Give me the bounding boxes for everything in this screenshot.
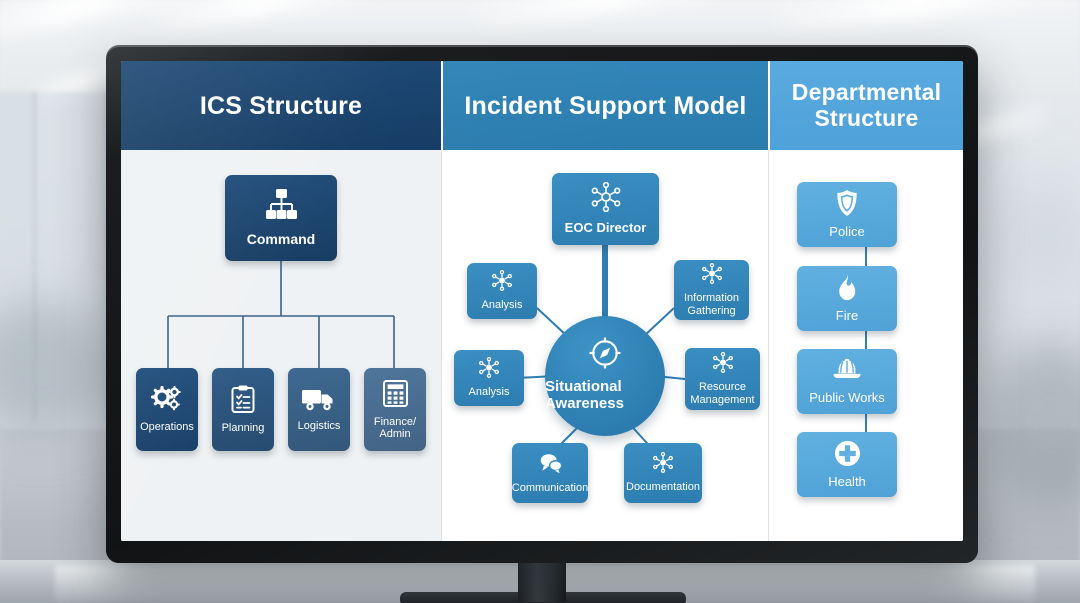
node-public-works[interactable]: Public Works — [797, 349, 897, 414]
node-label: Logistics — [298, 420, 341, 432]
node-label: Analysis — [469, 386, 510, 398]
node-fire[interactable]: Fire — [797, 266, 897, 331]
node-resource-management[interactable]: Resource Management — [685, 348, 760, 410]
slide-body: Command — [121, 150, 963, 541]
node-label: Resource Management — [688, 381, 757, 406]
node-label: Health — [828, 475, 866, 490]
hard-hat-icon — [832, 358, 862, 388]
node-label: Police — [829, 225, 864, 240]
node-label: Operations — [140, 421, 194, 433]
org-chart-icon — [262, 188, 300, 227]
header-departmental-structure: Departmental Structure — [770, 61, 963, 150]
node-police[interactable]: Police — [797, 182, 897, 247]
panel-ics-structure: Command — [121, 150, 441, 541]
node-label: Public Works — [809, 391, 885, 406]
header-incident-support-model: Incident Support Model — [443, 61, 768, 150]
slide-header-row: ICS Structure Incident Support Model Dep… — [121, 61, 963, 150]
panel-incident-support-model: EOC Director — [441, 150, 768, 541]
node-operations[interactable]: Operations — [136, 368, 198, 451]
node-eoc-director[interactable]: EOC Director — [552, 173, 659, 245]
node-label: Analysis — [482, 299, 523, 311]
calculator-icon — [382, 379, 409, 413]
node-label: Situational Awareness — [545, 379, 665, 413]
node-planning[interactable]: Planning — [212, 368, 274, 451]
panel-departmental-structure: Police Fire — [768, 150, 963, 541]
node-communication[interactable]: Communication — [512, 443, 588, 503]
node-documentation[interactable]: Documentation — [624, 443, 702, 503]
compass-icon — [588, 336, 622, 375]
node-label: Finance/ Admin — [374, 416, 416, 441]
node-label: Information Gathering — [677, 292, 746, 317]
monitor-screen: ICS Structure Incident Support Model Dep… — [121, 61, 963, 541]
flame-icon — [836, 273, 858, 306]
police-badge-icon — [835, 189, 859, 222]
node-finance-admin[interactable]: Finance/ Admin — [364, 368, 426, 451]
node-label: Fire — [836, 309, 858, 324]
office-scene-photo: ICS Structure Incident Support Model Dep… — [0, 0, 1080, 603]
node-label: Documentation — [626, 481, 700, 493]
network-hub-icon — [590, 182, 622, 217]
node-analysis-upper[interactable]: Analysis — [467, 263, 537, 319]
chat-bubbles-icon — [537, 452, 563, 479]
presentation-slide: ICS Structure Incident Support Model Dep… — [121, 61, 963, 541]
computer-monitor: ICS Structure Incident Support Model Dep… — [106, 45, 978, 563]
node-logistics[interactable]: Logistics — [288, 368, 350, 451]
gears-icon — [151, 386, 183, 418]
header-ics-structure: ICS Structure — [121, 61, 441, 150]
node-information-gathering[interactable]: Information Gathering — [674, 260, 749, 320]
network-hub-icon — [701, 263, 723, 289]
node-label: Command — [247, 232, 315, 248]
truck-icon — [301, 386, 337, 417]
node-analysis-lower[interactable]: Analysis — [454, 350, 524, 406]
node-health[interactable]: Health — [797, 432, 897, 497]
clipboard-checklist-icon — [230, 384, 256, 419]
medical-cross-icon — [834, 440, 861, 472]
node-label: Communication — [512, 482, 588, 494]
network-hub-icon — [491, 270, 513, 296]
network-hub-icon — [478, 357, 500, 383]
node-label: Planning — [222, 422, 265, 434]
network-hub-icon — [712, 352, 734, 378]
node-command[interactable]: Command — [225, 175, 337, 261]
node-label: EOC Director — [565, 221, 647, 236]
node-situational-awareness[interactable]: Situational Awareness — [545, 316, 665, 436]
background-blur-shape — [1000, 180, 1080, 290]
network-hub-icon — [652, 452, 674, 478]
